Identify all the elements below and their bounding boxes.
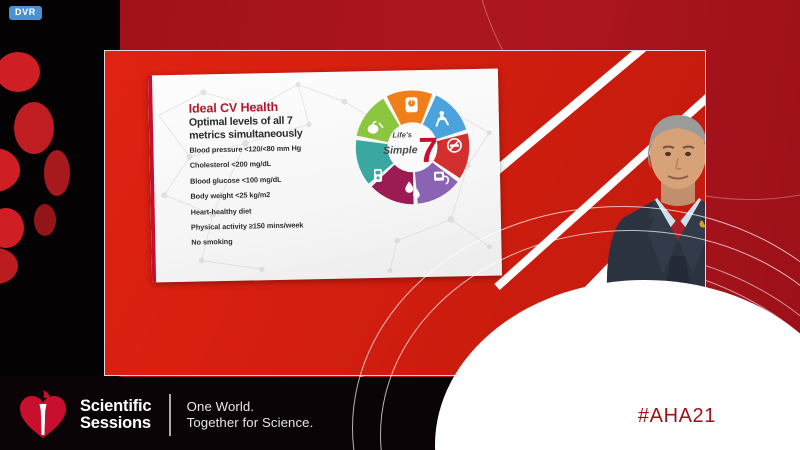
- branding-lockup: Scientific Sessions One World. Together …: [18, 389, 313, 441]
- lifes-simple-7-wheel: Life's Simple 7 ™: [348, 83, 477, 212]
- org-name: Scientific Sessions: [80, 398, 151, 432]
- list-item: Physical activity ≥150 mins/week: [191, 220, 371, 231]
- presentation-slide: Ideal CV Health Optimal levels of all 7 …: [148, 69, 502, 283]
- glucose-meter-icon: [374, 169, 382, 182]
- list-item: No smoking: [191, 235, 371, 246]
- list-item: Blood pressure <120/<80 mm Hg: [189, 143, 369, 154]
- list-item: Body weight <25 kg/m2: [190, 189, 370, 200]
- list-item: Blood glucose <100 mg/dL: [190, 174, 370, 185]
- dvr-badge: DVR: [9, 6, 42, 20]
- org-name-line2: Sessions: [80, 415, 151, 432]
- aha-heart-torch-icon: [18, 389, 68, 441]
- weight-scale-icon: [405, 97, 417, 112]
- list-item: Cholesterol <200 mg/dL: [190, 158, 370, 169]
- org-name-line1: Scientific: [80, 398, 151, 415]
- event-hashtag: #AHA21: [638, 405, 716, 428]
- list-item: Heart-healthy diet: [191, 205, 371, 216]
- tagline-line2: Together for Science.: [187, 415, 314, 431]
- brand-tagline: One World. Together for Science.: [187, 399, 314, 431]
- slide-title: Ideal CV Health: [188, 100, 278, 116]
- slide-subtitle: Optimal levels of all 7 metrics simultan…: [189, 114, 320, 143]
- slide-metrics-list: Blood pressure <120/<80 mm Hg Cholestero…: [189, 143, 371, 254]
- screenshot-root: DVR: [0, 0, 800, 450]
- tagline-line1: One World.: [187, 399, 314, 415]
- brand-divider: [169, 394, 170, 436]
